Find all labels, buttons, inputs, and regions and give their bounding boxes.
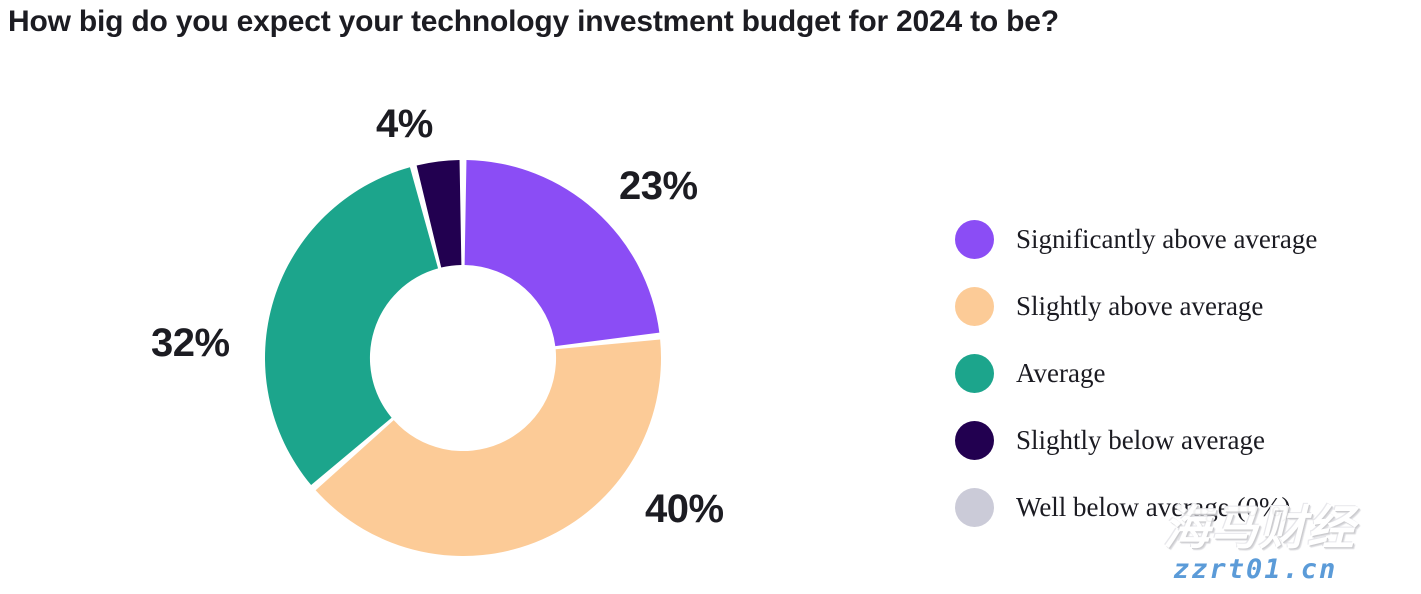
legend-item-significantly-above-average[interactable]: Significantly above average [955, 206, 1405, 273]
donut-slice-group [265, 160, 661, 556]
legend-item-slightly-above-average[interactable]: Slightly above average [955, 273, 1405, 340]
slice-value-label-significantly-above-average: 23% [619, 166, 698, 206]
legend-item-label: Significantly above average [1016, 225, 1317, 255]
legend-swatch-icon [955, 354, 994, 393]
slice-value-label-slightly-below-average: 4% [376, 104, 433, 144]
watermark-url-text: zzrt01.cn [1173, 555, 1337, 585]
legend-item-slightly-below-average[interactable]: Slightly below average [955, 407, 1405, 474]
legend-item-label: Slightly above average [1016, 292, 1263, 322]
legend-item-well-below-average[interactable]: Well below average (0%) [955, 474, 1405, 541]
legend-item-label: Average [1016, 359, 1105, 389]
legend-swatch-icon [955, 287, 994, 326]
page-title: How big do you expect your technology in… [8, 2, 1059, 42]
legend-swatch-icon [955, 220, 994, 259]
legend-swatch-icon [955, 421, 994, 460]
chart-legend: Significantly above average Slightly abo… [955, 206, 1405, 541]
legend-swatch-icon [955, 488, 994, 527]
donut-chart-svg [265, 160, 661, 556]
slice-value-label-slightly-above-average: 40% [645, 489, 724, 529]
legend-item-label: Slightly below average [1016, 426, 1265, 456]
slice-value-label-average: 32% [151, 323, 230, 363]
legend-item-average[interactable]: Average [955, 340, 1405, 407]
donut-chart [265, 160, 661, 556]
legend-item-label: Well below average (0%) [1016, 493, 1290, 523]
